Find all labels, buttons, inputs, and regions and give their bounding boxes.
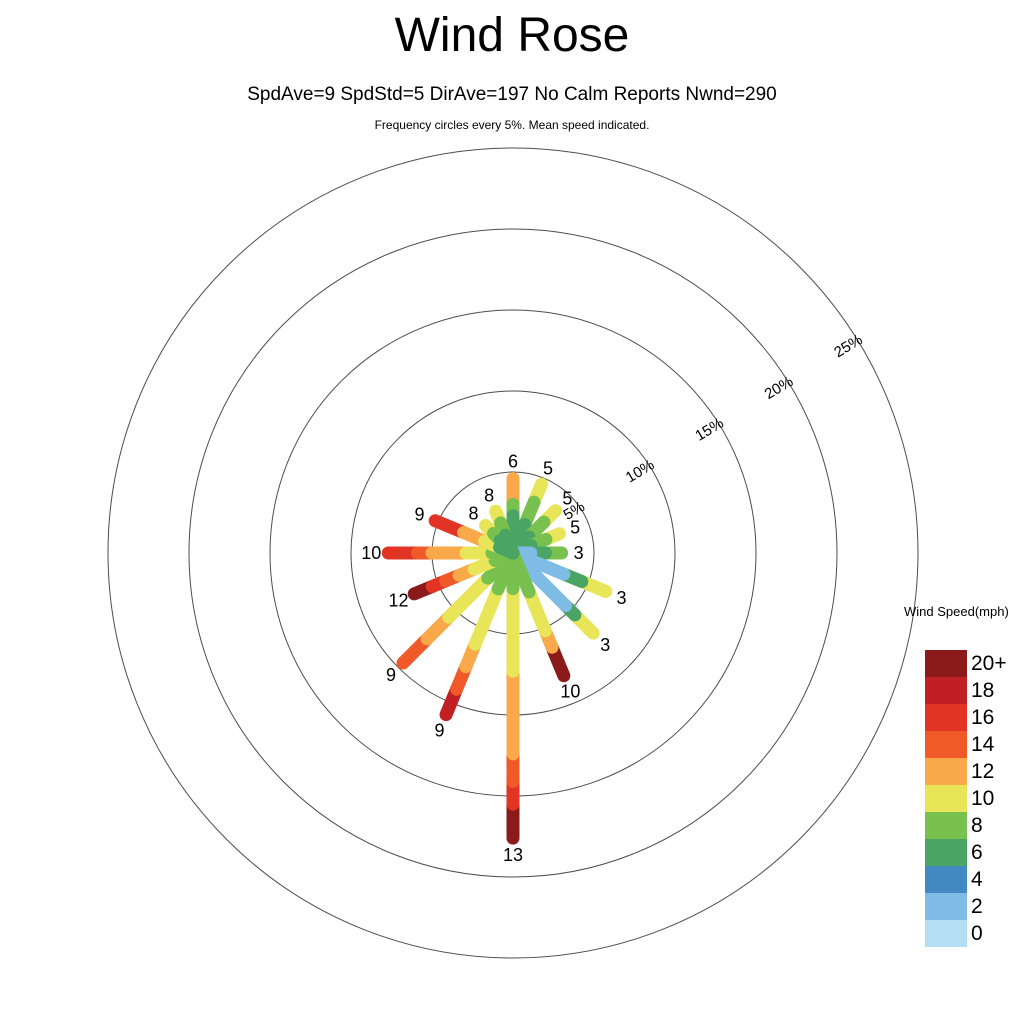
- legend-swatch-20plus: [925, 650, 967, 677]
- legend-swatch-0: [925, 920, 967, 947]
- legend-label-18: 18: [971, 680, 994, 701]
- legend-label-6: 6: [971, 842, 983, 863]
- legend-label-14: 14: [971, 734, 994, 755]
- legend-label-16: 16: [971, 707, 994, 728]
- petal-label-SW: 9: [386, 665, 396, 685]
- petal-label-NW: 8: [468, 503, 478, 523]
- petal-label-NNE: 5: [543, 458, 553, 478]
- legend-label-2: 2: [971, 896, 983, 917]
- legend-label-12: 12: [971, 761, 994, 782]
- petal-segment-NNW-4-6: [506, 535, 513, 553]
- legend-label-0: 0: [971, 923, 983, 944]
- petal-label-SE: 3: [600, 635, 610, 655]
- petal-label-SSE: 10: [560, 681, 580, 701]
- legend-swatch-6: [925, 839, 967, 866]
- legend-label-8: 8: [971, 815, 983, 836]
- legend: Wind Speed(mph) 20+181614121086420: [900, 600, 1024, 950]
- legend-swatch-12: [925, 758, 967, 785]
- ring-label-10: 10%: [623, 456, 657, 486]
- petal-label-SSW: 9: [435, 720, 445, 740]
- legend-swatch-16: [925, 704, 967, 731]
- legend-label-4: 4: [971, 869, 983, 890]
- legend-swatch-2: [925, 893, 967, 920]
- legend-swatch-14: [925, 731, 967, 758]
- legend-swatch-18: [925, 677, 967, 704]
- legend-swatch-10: [925, 785, 967, 812]
- legend-swatch-8: [925, 812, 967, 839]
- petal-label-E: 3: [574, 543, 584, 563]
- legend-title: Wind Speed(mph): [904, 604, 1009, 619]
- petal-label-S: 13: [503, 845, 523, 865]
- legend-swatches: 20+181614121086420: [925, 650, 1024, 947]
- wind-rose-page: Wind Rose SpdAve=9 SpdStd=5 DirAve=197 N…: [0, 0, 1024, 1024]
- legend-swatch-4: [925, 866, 967, 893]
- petal-label-WSW: 12: [388, 590, 408, 610]
- petal-label-WNW: 9: [414, 504, 424, 524]
- legend-label-20plus: 20+: [971, 653, 1007, 674]
- petal-label-NNW: 8: [484, 485, 494, 505]
- petal-label-NE: 5: [562, 489, 572, 509]
- wind-rose-plot: 5%10%15%20%25% 65553331013991210988: [0, 0, 1024, 1024]
- ring-labels: 5%10%15%20%25%: [561, 331, 866, 524]
- petal-label-ESE: 3: [616, 588, 626, 608]
- petal-segment-SSW-8-10: [475, 589, 498, 644]
- ring-label-15: 15%: [692, 415, 726, 445]
- ring-label-25: 25%: [831, 331, 865, 361]
- petal-label-N: 6: [508, 451, 518, 471]
- ring-label-20: 20%: [762, 373, 796, 403]
- petal-label-W: 10: [361, 543, 381, 563]
- legend-label-10: 10: [971, 788, 994, 809]
- petal-label-ENE: 5: [570, 517, 580, 537]
